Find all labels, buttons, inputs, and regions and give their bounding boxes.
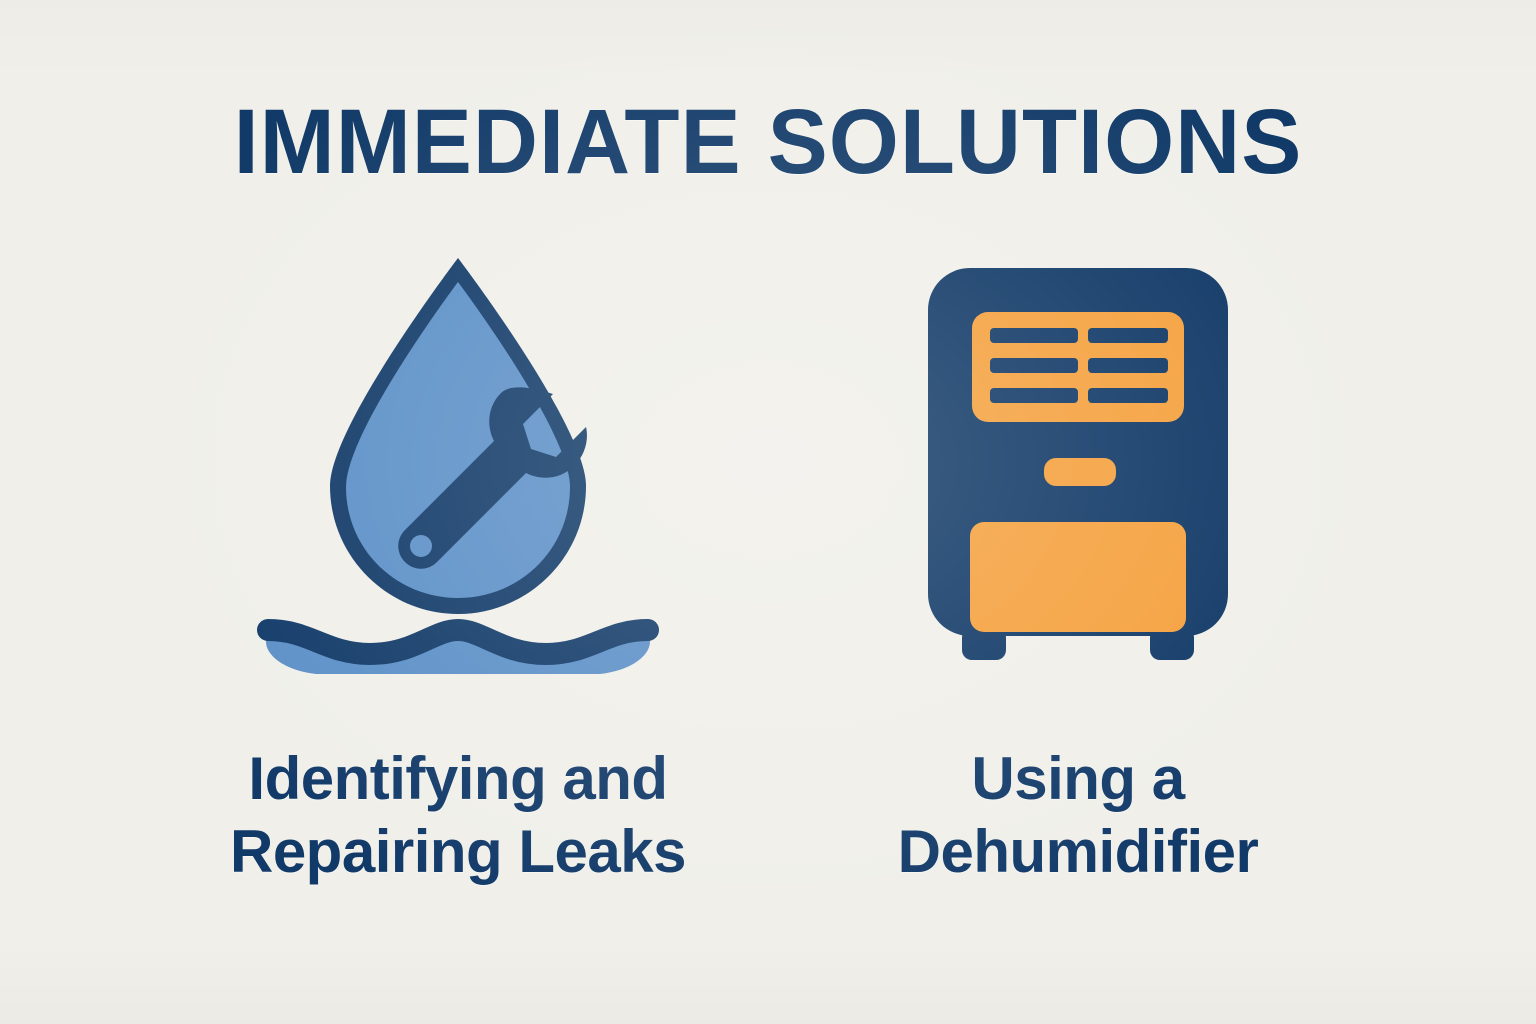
control-button[interactable] [1044, 458, 1116, 486]
caption-leaks-line2: Repairing Leaks [230, 815, 686, 888]
page-title: IMMEDIATE SOLUTIONS [15, 96, 1520, 190]
vent-slot [990, 388, 1078, 403]
water-tank-panel [970, 522, 1186, 632]
vent-slot [1088, 328, 1168, 343]
vent-slot [990, 328, 1078, 343]
solution-card-dehumidifier: Using a Dehumidifier [798, 250, 1358, 888]
solution-card-leaks: Identifying and Repairing Leaks [178, 250, 738, 888]
caption-dehumidifier-line2: Dehumidifier [898, 815, 1259, 888]
solutions-columns: Identifying and Repairing Leaks [0, 250, 1536, 950]
dehumidifier-icon-wrap [898, 250, 1258, 700]
vent-slot [990, 358, 1078, 373]
infographic-poster: IMMEDIATE SOLUTIONS [0, 0, 1536, 1024]
dehumidifier-icon [898, 250, 1258, 680]
wrench-handle-hole [410, 535, 432, 557]
caption-dehumidifier-line1: Using a [898, 742, 1259, 815]
water-drop-wrench-icon [248, 250, 668, 680]
caption-dehumidifier: Using a Dehumidifier [898, 742, 1259, 888]
vent-slot [1088, 358, 1168, 373]
caption-leaks: Identifying and Repairing Leaks [230, 742, 686, 888]
caption-leaks-line1: Identifying and [230, 742, 686, 815]
vent-slot [1088, 388, 1168, 403]
water-drop-wrench-icon-wrap [248, 250, 668, 700]
water-droplet-fill [346, 282, 570, 598]
